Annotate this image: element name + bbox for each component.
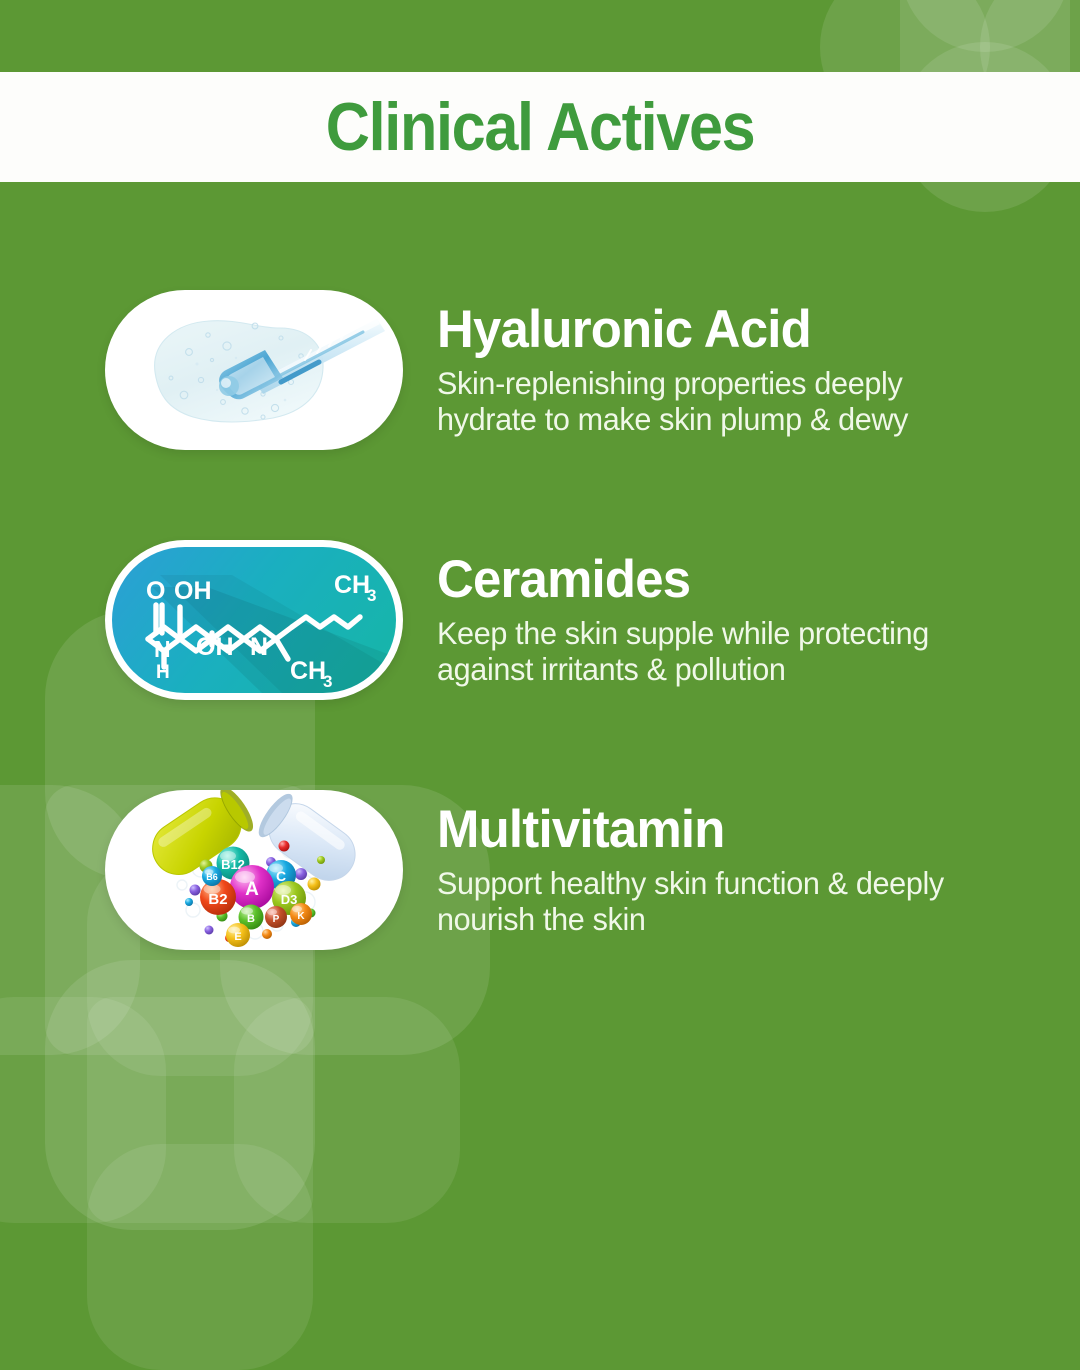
vitamin-sphere-e: E xyxy=(226,923,250,947)
icon-card-ceramides: O OH N H OH N CH 3 CH 3 xyxy=(105,540,403,700)
svg-text:K: K xyxy=(297,911,305,922)
svg-text:B2: B2 xyxy=(208,891,227,908)
mol-label-3-top: 3 xyxy=(367,586,376,605)
ceramide-molecule-icon: O OH N H OH N CH 3 CH 3 xyxy=(112,547,396,693)
feature-title: Multivitamin xyxy=(437,803,1016,856)
feature-description: Support healthy skin function & deeply n… xyxy=(437,866,1022,937)
mol-label-OH2: OH xyxy=(196,633,234,661)
icon-card-multivitamin: B12 C A xyxy=(105,790,403,950)
svg-text:B: B xyxy=(247,913,255,925)
mol-label-N: N xyxy=(154,636,171,662)
feature-text-ceramides: Ceramides Keep the skin supple while pro… xyxy=(437,553,1080,687)
mol-label-O: O xyxy=(146,577,165,605)
feature-text-multivitamin: Multivitamin Support healthy skin functi… xyxy=(437,803,1080,937)
clover-lobe xyxy=(87,1144,313,1370)
feature-row-hyaluronic-acid: Hyaluronic Acid Skin-replenishing proper… xyxy=(0,270,1080,470)
mol-label-CH3-bottom: CH xyxy=(290,657,326,685)
icon-card-hyaluronic-acid xyxy=(105,290,403,450)
dropper-gel-icon xyxy=(105,290,403,450)
svg-text:A: A xyxy=(245,879,259,900)
feature-title: Ceramides xyxy=(437,553,1016,606)
page-title: Clinical Actives xyxy=(326,88,755,166)
svg-text:E: E xyxy=(234,931,241,943)
feature-title: Hyaluronic Acid xyxy=(437,303,1016,356)
mol-label-N2: N xyxy=(250,633,268,661)
feature-row-ceramides: O OH N H OH N CH 3 CH 3 Ceramides Keep t… xyxy=(0,520,1080,720)
svg-text:P: P xyxy=(273,914,280,925)
feature-row-multivitamin: B12 C A xyxy=(0,770,1080,970)
mol-label-3-bottom: 3 xyxy=(323,672,332,691)
vitamin-sphere-k: K xyxy=(290,903,312,925)
clover-lobe xyxy=(900,0,1070,52)
title-band: Clinical Actives xyxy=(0,72,1080,182)
svg-text:D3: D3 xyxy=(281,892,298,907)
vitamin-sphere-b2: B2 xyxy=(200,879,236,915)
vitamin-sphere-a: A xyxy=(230,865,274,909)
feature-text-hyaluronic-acid: Hyaluronic Acid Skin-replenishing proper… xyxy=(437,303,1080,437)
capsule-vitamins-icon: B12 C A xyxy=(105,790,403,950)
mol-label-CH3-top: CH xyxy=(334,571,370,599)
feature-description: Skin-replenishing properties deeply hydr… xyxy=(437,366,1022,437)
teal-gradient-panel: O OH N H OH N CH 3 CH 3 xyxy=(112,547,396,693)
features-list: Hyaluronic Acid Skin-replenishing proper… xyxy=(0,182,1080,1080)
mol-label-OH: OH xyxy=(174,577,212,605)
vitamin-sphere-b6: B6 xyxy=(202,866,222,886)
feature-description: Keep the skin supple while protecting ag… xyxy=(437,616,1022,687)
mol-label-H: H xyxy=(156,662,170,683)
vitamin-sphere-p: P xyxy=(265,906,287,928)
svg-text:B6: B6 xyxy=(206,872,218,882)
